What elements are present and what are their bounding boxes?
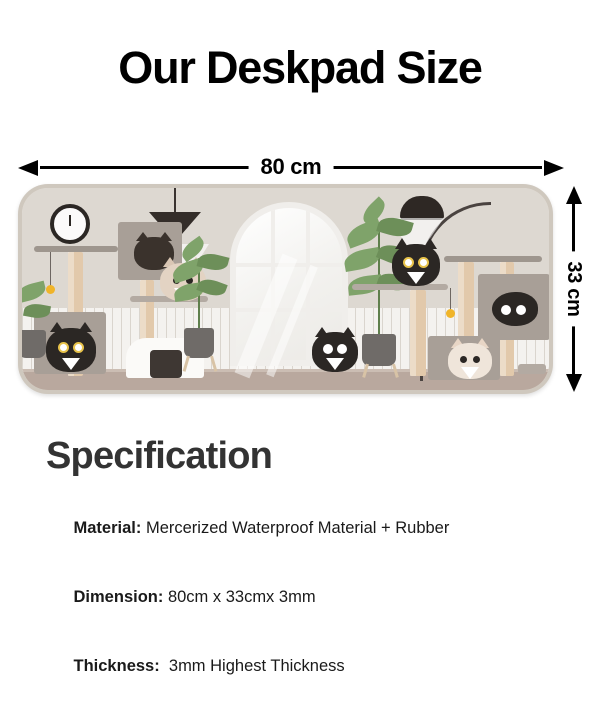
clock-hand-hour <box>69 218 71 226</box>
cat-eye <box>403 257 414 268</box>
page-title: Our Deskpad Size <box>0 40 600 96</box>
spec-label-dimension: Dimension: <box>74 588 164 606</box>
deskpad-product-image <box>18 184 553 394</box>
plant-pot <box>184 328 214 358</box>
cat-chest-marking <box>407 272 425 284</box>
spec-row-dimension: Dimension: 80cm x 33cmx 3mm <box>46 563 566 632</box>
arrow-down-icon <box>566 374 582 392</box>
cat-eye <box>323 344 333 354</box>
spec-label-thickness: Thickness: <box>74 657 160 675</box>
cat-black-left <box>46 324 96 374</box>
wall-clock <box>50 204 90 244</box>
width-dimension-indicator: 80 cm <box>18 152 564 182</box>
plant-pot <box>22 330 46 358</box>
deskpad-print-area <box>22 188 549 390</box>
cat-cream <box>448 338 492 380</box>
cat-eye <box>516 305 526 315</box>
cat-chest-marking <box>461 367 479 379</box>
spec-row-material: Material: Mercerized Waterproof Material… <box>46 494 566 563</box>
specification-heading: Specification <box>46 432 272 480</box>
width-dimension-label: 80 cm <box>249 152 334 182</box>
spec-value-material: Mercerized Waterproof Material + Rubber <box>141 519 449 537</box>
pendant-lamp-cord <box>174 188 176 212</box>
cat-eye <box>337 344 347 354</box>
cat-black-standing <box>312 328 358 376</box>
hanging-toy-string <box>50 252 51 286</box>
arrow-up-icon <box>566 186 582 204</box>
arrow-left-icon <box>18 160 38 176</box>
litter-box-entrance <box>150 350 182 378</box>
cat-head <box>492 292 538 326</box>
specification-list: Material: Mercerized Waterproof Material… <box>46 494 566 701</box>
spec-value-thickness: 3mm Highest Thickness <box>160 657 345 675</box>
arrow-right-icon <box>544 160 564 176</box>
cat-chest-marking <box>326 358 344 370</box>
infographic-page: Our Deskpad Size 80 cm 33 cm <box>0 0 600 600</box>
height-dimension-label: 33 cm <box>561 251 587 326</box>
cat-eye <box>473 356 480 363</box>
plant-pot <box>362 334 396 366</box>
cat-black-curled <box>492 292 538 326</box>
cat-cafe-scene <box>22 188 549 390</box>
floor-object <box>518 364 546 374</box>
height-dimension-indicator: 33 cm <box>558 186 590 392</box>
cat-tree-post <box>410 290 426 376</box>
hanging-toy-ball <box>46 285 55 294</box>
cat-eye <box>58 342 69 353</box>
cat-eye <box>73 342 84 353</box>
spec-row-thickness: Thickness: 3mm Highest Thickness <box>46 632 566 701</box>
spec-label-material: Material: <box>74 519 142 537</box>
cat-chest-marking <box>62 358 80 370</box>
spec-value-dimension: 80cm x 33cmx 3mm <box>163 588 315 606</box>
cat-eye <box>460 356 467 363</box>
cat-eye <box>418 257 429 268</box>
window-mullion-horizontal <box>236 308 342 312</box>
cat-black-perched <box>392 240 440 288</box>
hanging-toy-string <box>450 288 451 310</box>
hanging-toy-ball <box>446 309 455 318</box>
cat-eye <box>501 305 511 315</box>
